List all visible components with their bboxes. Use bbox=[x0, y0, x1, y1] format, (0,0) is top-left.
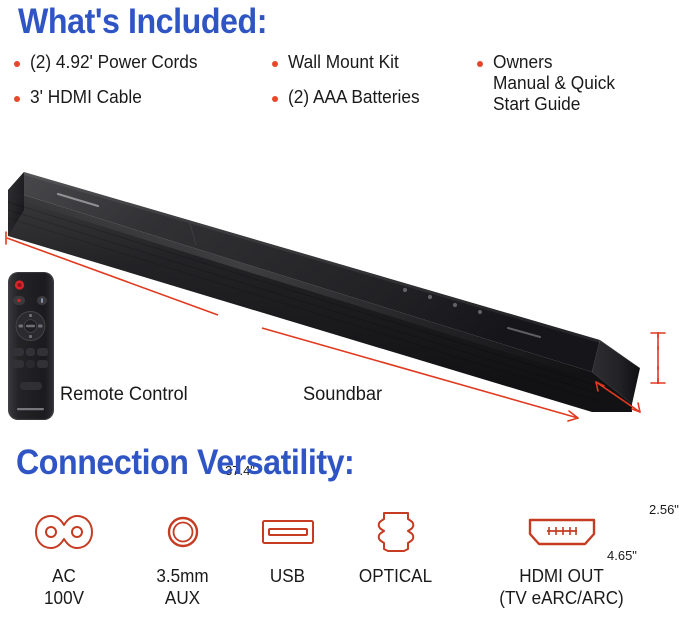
included-column-2: Wall Mount Kit (2) AAA Batteries bbox=[272, 52, 477, 122]
remote-button bbox=[26, 360, 35, 368]
product-infographic: What's Included: (2) 4.92' Power Cords 3… bbox=[0, 0, 679, 617]
connection-versatility-heading: Connection Versatility: bbox=[16, 443, 354, 483]
included-item-label: 3' HDMI Cable bbox=[30, 87, 142, 108]
included-item-label: (2) AAA Batteries bbox=[288, 87, 420, 108]
connection-item-optical: OPTICAL bbox=[338, 505, 454, 587]
list-item: 3' HDMI Cable bbox=[14, 87, 272, 108]
included-item-label: Wall Mount Kit bbox=[288, 52, 399, 73]
included-column-3: Owners Manual & Quick Start Guide bbox=[477, 52, 667, 129]
connection-item-hdmi: HDMI OUT (TV eARC/ARC) bbox=[454, 505, 669, 609]
connection-item-aux: 3.5mm AUX bbox=[128, 505, 238, 609]
optical-port-icon bbox=[374, 505, 418, 559]
bullet-dot-icon bbox=[14, 96, 20, 102]
included-item-label: (2) 4.92' Power Cords bbox=[30, 52, 198, 73]
remote-brand-logo bbox=[17, 408, 44, 410]
connection-label: AC 100V bbox=[44, 565, 84, 609]
connection-icons-row: AC 100V 3.5mm AUX USB bbox=[0, 505, 679, 609]
included-item-label: Owners Manual & Quick Start Guide bbox=[493, 52, 615, 115]
whats-included-heading: What's Included: bbox=[18, 2, 267, 42]
list-item: Owners Manual & Quick Start Guide bbox=[477, 52, 667, 115]
remote-button bbox=[12, 348, 24, 356]
hdmi-port-icon bbox=[525, 505, 599, 559]
remote-button bbox=[12, 360, 24, 368]
remote-mode-button bbox=[20, 382, 42, 390]
connection-item-ac: AC 100V bbox=[0, 505, 128, 609]
list-item: Wall Mount Kit bbox=[272, 52, 477, 73]
connection-label: 3.5mm AUX bbox=[157, 565, 209, 609]
soundbar-label: Soundbar bbox=[303, 384, 382, 406]
ac-power-icon bbox=[34, 505, 94, 559]
remote-button bbox=[26, 348, 35, 356]
soundbar-body bbox=[8, 172, 640, 412]
bullet-dot-icon bbox=[477, 61, 483, 67]
bullet-dot-icon bbox=[272, 96, 278, 102]
connection-item-usb: USB bbox=[238, 505, 338, 587]
remote-button bbox=[37, 348, 48, 356]
bullet-dot-icon bbox=[272, 61, 278, 67]
included-column-1: (2) 4.92' Power Cords 3' HDMI Cable bbox=[14, 52, 272, 122]
list-item: (2) AAA Batteries bbox=[272, 87, 477, 108]
aux-jack-icon bbox=[163, 505, 203, 559]
connection-label: OPTICAL bbox=[359, 565, 432, 587]
remote-control-graphic bbox=[8, 272, 54, 420]
bullet-dot-icon bbox=[14, 61, 20, 67]
list-item: (2) 4.92' Power Cords bbox=[14, 52, 272, 73]
connection-label: USB bbox=[270, 565, 305, 587]
connection-label: HDMI OUT (TV eARC/ARC) bbox=[499, 565, 623, 609]
whats-included-list: (2) 4.92' Power Cords 3' HDMI Cable Wall… bbox=[14, 52, 674, 129]
remote-control-label: Remote Control bbox=[60, 384, 188, 406]
usb-port-icon bbox=[260, 505, 316, 559]
remote-button bbox=[37, 360, 48, 368]
